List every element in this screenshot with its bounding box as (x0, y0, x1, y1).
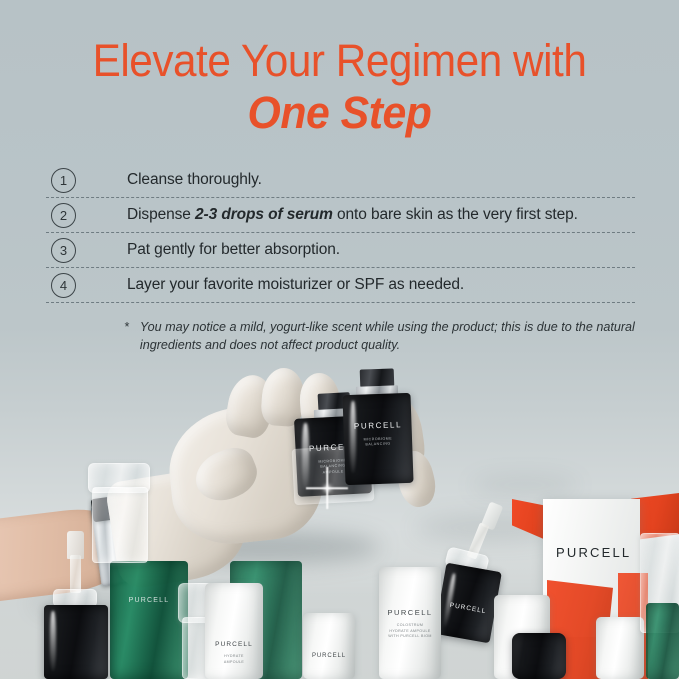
bottle-sub-line-2: MICROBIOME (364, 437, 393, 442)
step-number-badge: 4 (51, 273, 76, 298)
step-text: Layer your favorite moisturizer or SPF a… (127, 276, 464, 294)
step-text-main: Cleanse thoroughly. (127, 171, 262, 188)
footnote-text: You may notice a mild, yogurt-like scent… (140, 319, 644, 355)
green-glass-bottle (110, 561, 188, 679)
dropper-pipette-stem (70, 555, 81, 593)
ampoule-sub-line-3: AMPOULE (224, 660, 244, 664)
page-title: Elevate Your Regimen with One Step (0, 38, 679, 135)
product-instruction-graphic: Elevate Your Regimen with One Step 1 Cle… (0, 0, 679, 679)
step-text: Cleanse thoroughly. (127, 171, 262, 189)
footnote: * You may notice a mild, yogurt-like sce… (124, 319, 644, 355)
headline-line-1: Elevate Your Regimen with (20, 38, 658, 83)
ampoule-sub-label: HYDRATE AMPOULE (205, 654, 263, 665)
glass-highlight (50, 611, 56, 671)
bottle-sub-line-4: AMPOULE (323, 469, 344, 474)
glass-jar (92, 487, 148, 563)
step-row: 2 Dispense 2-3 drops of serum onto bare … (46, 198, 635, 233)
ampoule-sub-line-2: COLOSTRUM (397, 623, 424, 627)
step-number-badge: 1 (51, 168, 76, 193)
step-row: 1 Cleanse thoroughly. (46, 163, 635, 198)
ampoule-bottle-extra (596, 617, 644, 679)
step-number-badge: 2 (51, 203, 76, 228)
step-number-badge: 3 (51, 238, 76, 263)
bottle-sub-line-3: BALANCING (320, 464, 345, 469)
dark-cap-bottle (512, 633, 566, 679)
glass-highlight (350, 401, 356, 473)
ampoule-sub-line-4: WITH PURCELL BIOM (388, 634, 432, 638)
step-text-main: Layer your favorite moisturizer or SPF a… (127, 276, 464, 293)
step-text-tail: onto bare skin as the very first step. (333, 206, 578, 223)
step-text-main: Pat gently for better absorption. (127, 241, 340, 258)
step-text: Pat gently for better absorption. (127, 241, 340, 259)
ampoule-sub-line-3: HYDRATE AMPOULE (389, 629, 430, 633)
step-text-emphasis: 2-3 drops of serum (195, 206, 333, 223)
product-photo: PURCELL PURCELL MICROBIOME BALANCING AMP… (0, 355, 679, 679)
carton-brand-label: PURCELL (556, 545, 631, 560)
ampoule-sub-label: COLOSTRUM HYDRATE AMPOULE WITH PURCELL B… (379, 623, 441, 640)
step-text-main: Dispense (127, 206, 195, 223)
footnote-marker: * (124, 319, 129, 355)
green-glass-bottle (646, 603, 679, 679)
ampoule-bottle-extra (303, 613, 355, 679)
green-bottle-brand-label: PURCELL (110, 597, 188, 604)
headline-line-2: One Step (17, 90, 662, 135)
ampoule-brand-label: PURCELL (379, 608, 441, 617)
ampoule-brand-label: PURCELL (303, 653, 355, 659)
glass-highlight (302, 423, 309, 489)
ampoule-brand-label: PURCELL (205, 641, 263, 648)
bottle-sub-line-3: BALANCING (365, 442, 390, 447)
shadow (470, 475, 580, 495)
step-row: 3 Pat gently for better absorption. (46, 233, 635, 268)
ampoule-sub-line-2: HYDRATE (224, 654, 244, 658)
step-row: 4 Layer your favorite moisturizer or SPF… (46, 268, 635, 303)
step-text: Dispense 2-3 drops of serum onto bare sk… (127, 206, 578, 224)
steps-list: 1 Cleanse thoroughly. 2 Dispense 2-3 dro… (46, 163, 635, 303)
